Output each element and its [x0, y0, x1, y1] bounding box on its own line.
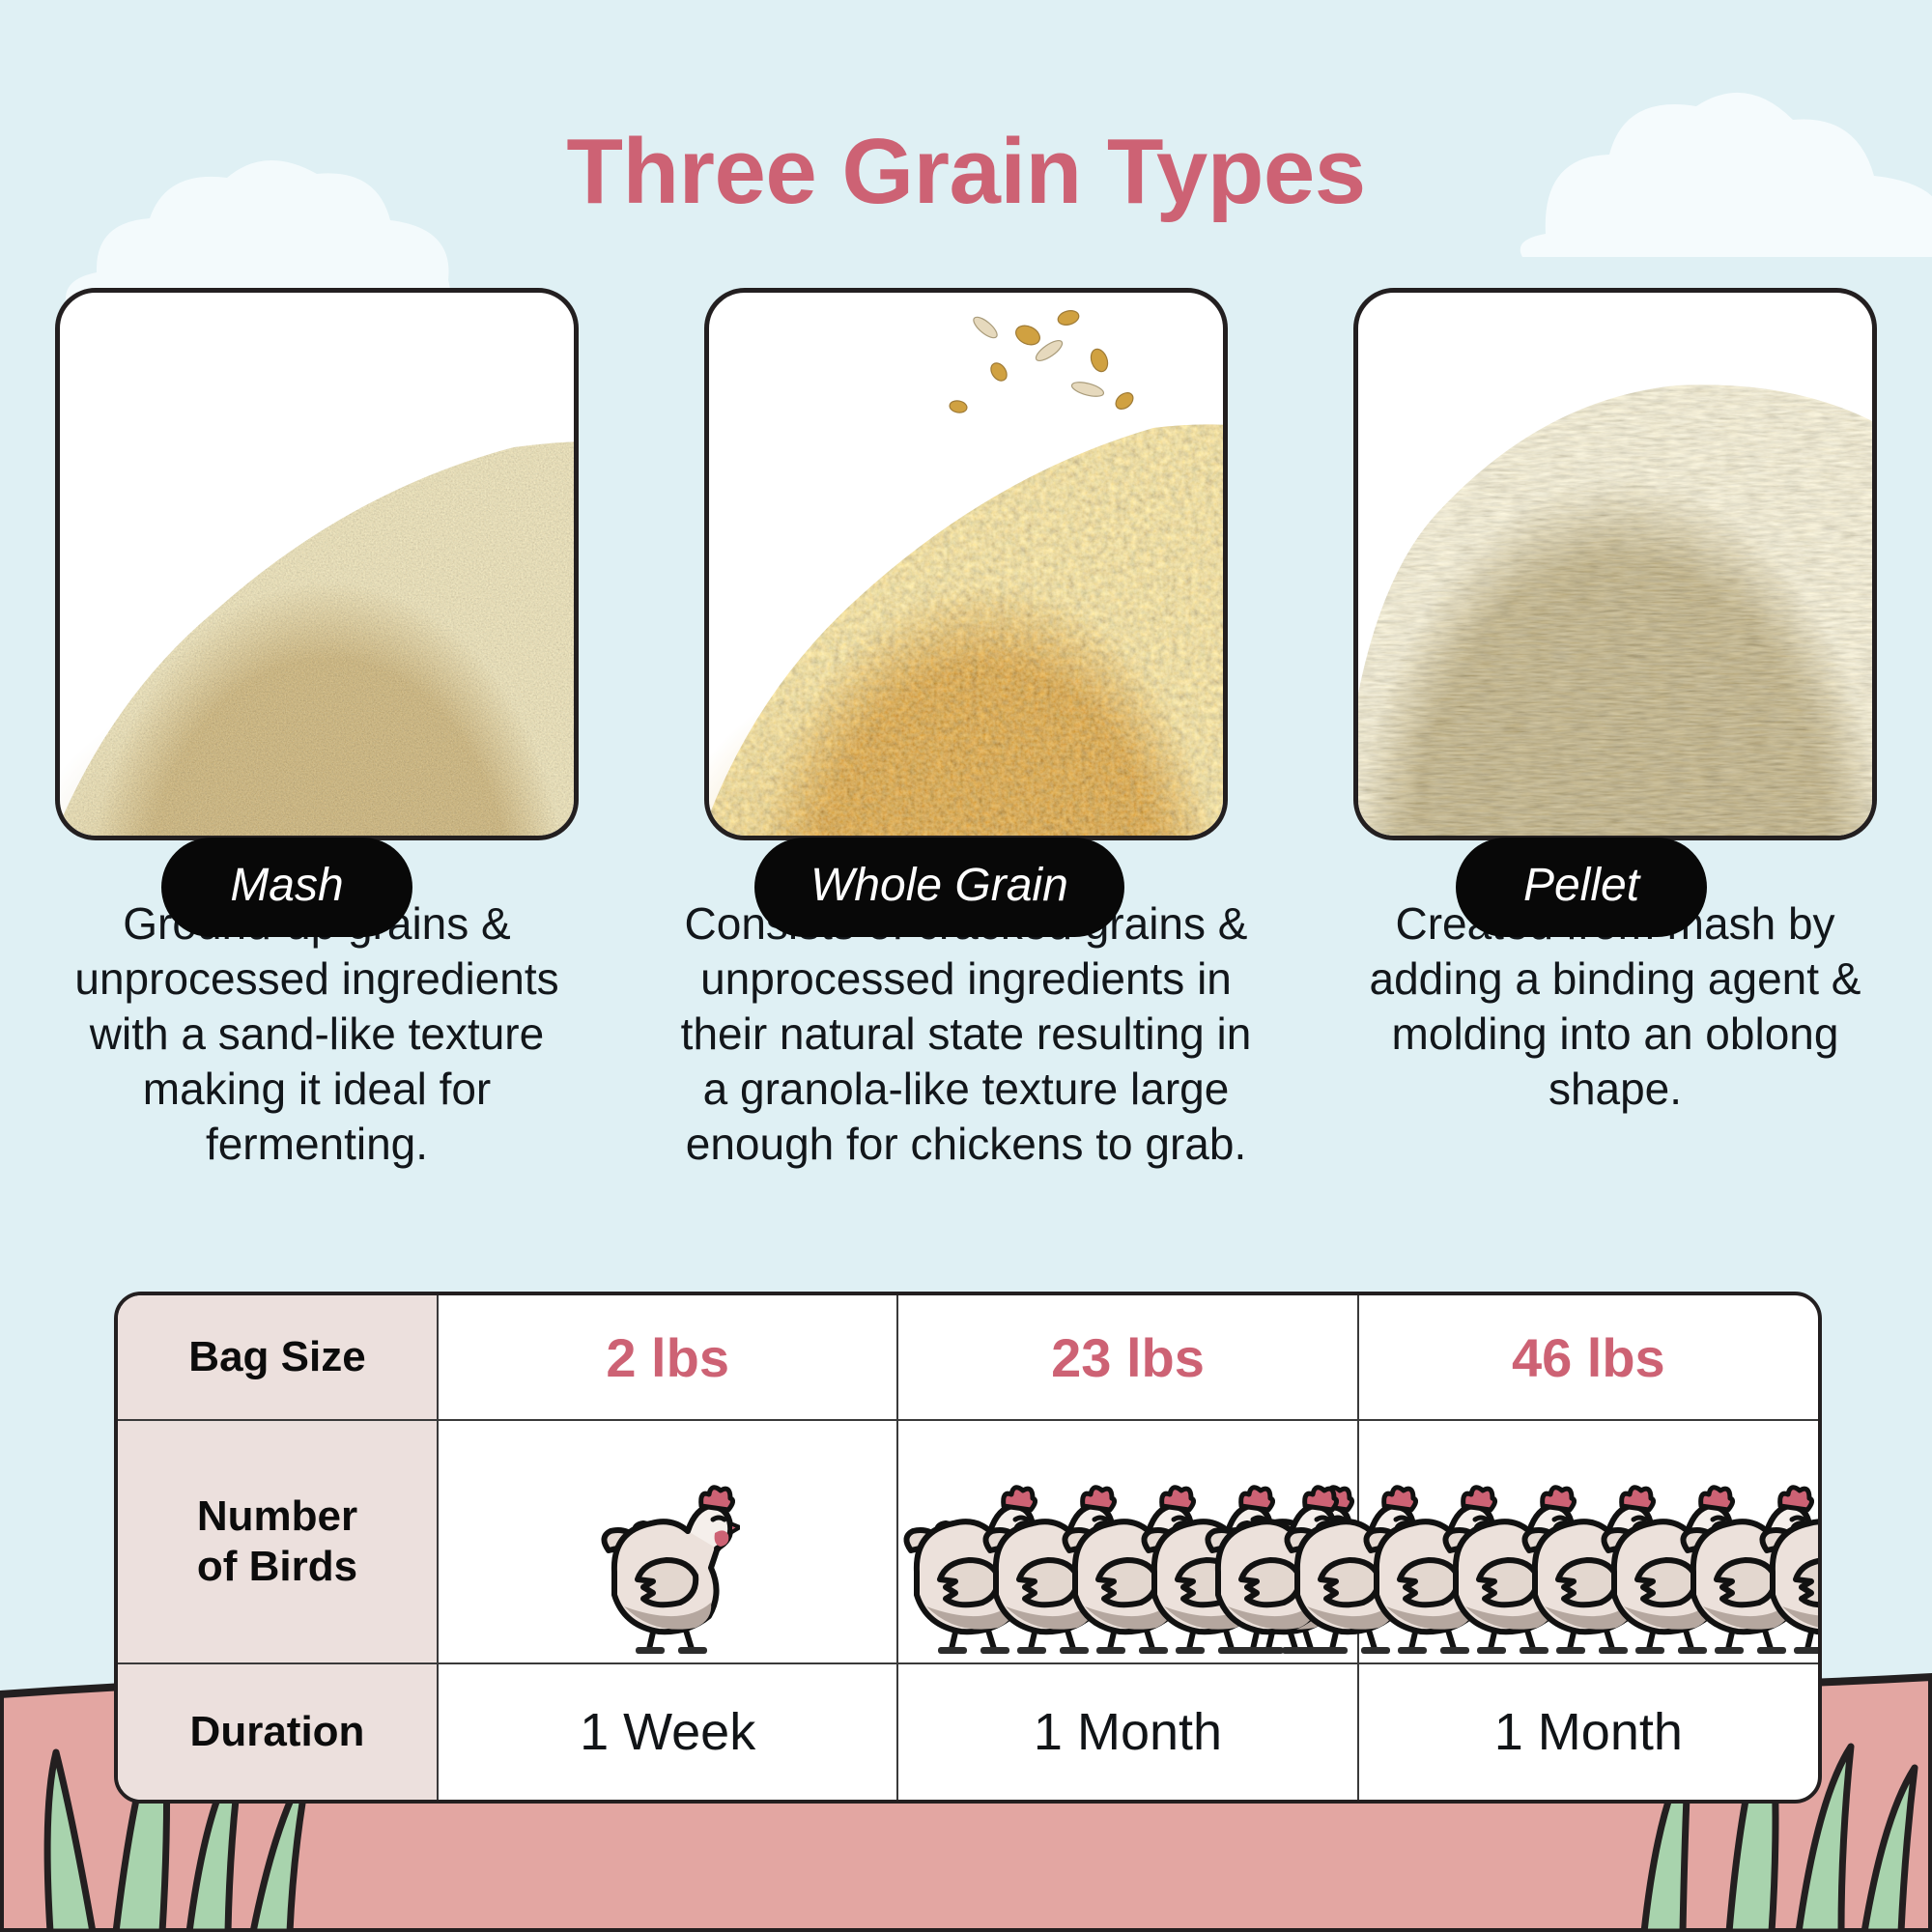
cell-bag-size-3: 46 lbs: [1358, 1295, 1818, 1420]
cell-bag-size-1: 2 lbs: [438, 1295, 897, 1420]
cell-duration-2: 1 Month: [897, 1663, 1357, 1800]
duration-value: 1 Month: [1494, 1703, 1683, 1761]
row-header-line2: of Birds: [197, 1543, 357, 1590]
bag-size-value: 2 lbs: [606, 1327, 729, 1388]
table-row-duration: Duration 1 Week 1 Month 1 Month: [118, 1663, 1818, 1800]
chicken-flock: [1359, 1421, 1818, 1662]
row-header-duration: Duration: [118, 1663, 438, 1800]
row-header-bag-size: Bag Size: [118, 1295, 438, 1420]
grain-card-whole-grain[interactable]: Whole Grain: [704, 288, 1228, 896]
chicken-icon: [1753, 1479, 1822, 1662]
mash-photo: [55, 288, 579, 840]
row-header-number-of-birds: Number of Birds: [118, 1420, 438, 1663]
grain-card-mash[interactable]: Mash: [55, 288, 579, 896]
grain-description-whole-grain: Consists of cracked grains & unprocessed…: [667, 896, 1265, 1172]
grain-card-label: Mash: [161, 838, 412, 937]
cell-birds-3: [1358, 1420, 1818, 1663]
table-row-number-of-birds: Number of Birds: [118, 1420, 1818, 1663]
page-title: Three Grain Types: [0, 124, 1932, 221]
bag-size-value: 46 lbs: [1512, 1327, 1665, 1388]
comparison-table: Bag Size 2 lbs 23 lbs 46 lbs Number of B…: [114, 1292, 1822, 1804]
infographic-canvas: Three Grain Types: [0, 0, 1932, 1932]
grain-description-pellet: Created from mash by adding a binding ag…: [1353, 896, 1877, 1172]
cell-duration-3: 1 Month: [1358, 1663, 1818, 1800]
duration-value: 1 Week: [580, 1703, 755, 1761]
grain-description-mash: Ground-up grains & unprocessed ingredien…: [55, 896, 579, 1172]
whole-grain-photo: [704, 288, 1228, 840]
chicken-flock: [439, 1421, 896, 1662]
grain-card-label: Pellet: [1456, 838, 1707, 937]
grain-card-label: Whole Grain: [754, 838, 1124, 937]
pellet-photo: [1353, 288, 1877, 840]
grain-card-pellet[interactable]: Pellet: [1353, 288, 1877, 896]
row-header-line1: Number: [197, 1492, 357, 1540]
bag-size-value: 23 lbs: [1051, 1327, 1205, 1388]
grain-card-row: Mash: [0, 288, 1932, 896]
grain-description-row: Ground-up grains & unprocessed ingredien…: [0, 896, 1932, 1172]
cell-duration-1: 1 Week: [438, 1663, 897, 1800]
duration-value: 1 Month: [1034, 1703, 1222, 1761]
cell-bag-size-2: 23 lbs: [897, 1295, 1357, 1420]
table-row-bag-size: Bag Size 2 lbs 23 lbs 46 lbs: [118, 1295, 1818, 1420]
chicken-icon: [595, 1479, 740, 1662]
cell-birds-1: [438, 1420, 897, 1663]
